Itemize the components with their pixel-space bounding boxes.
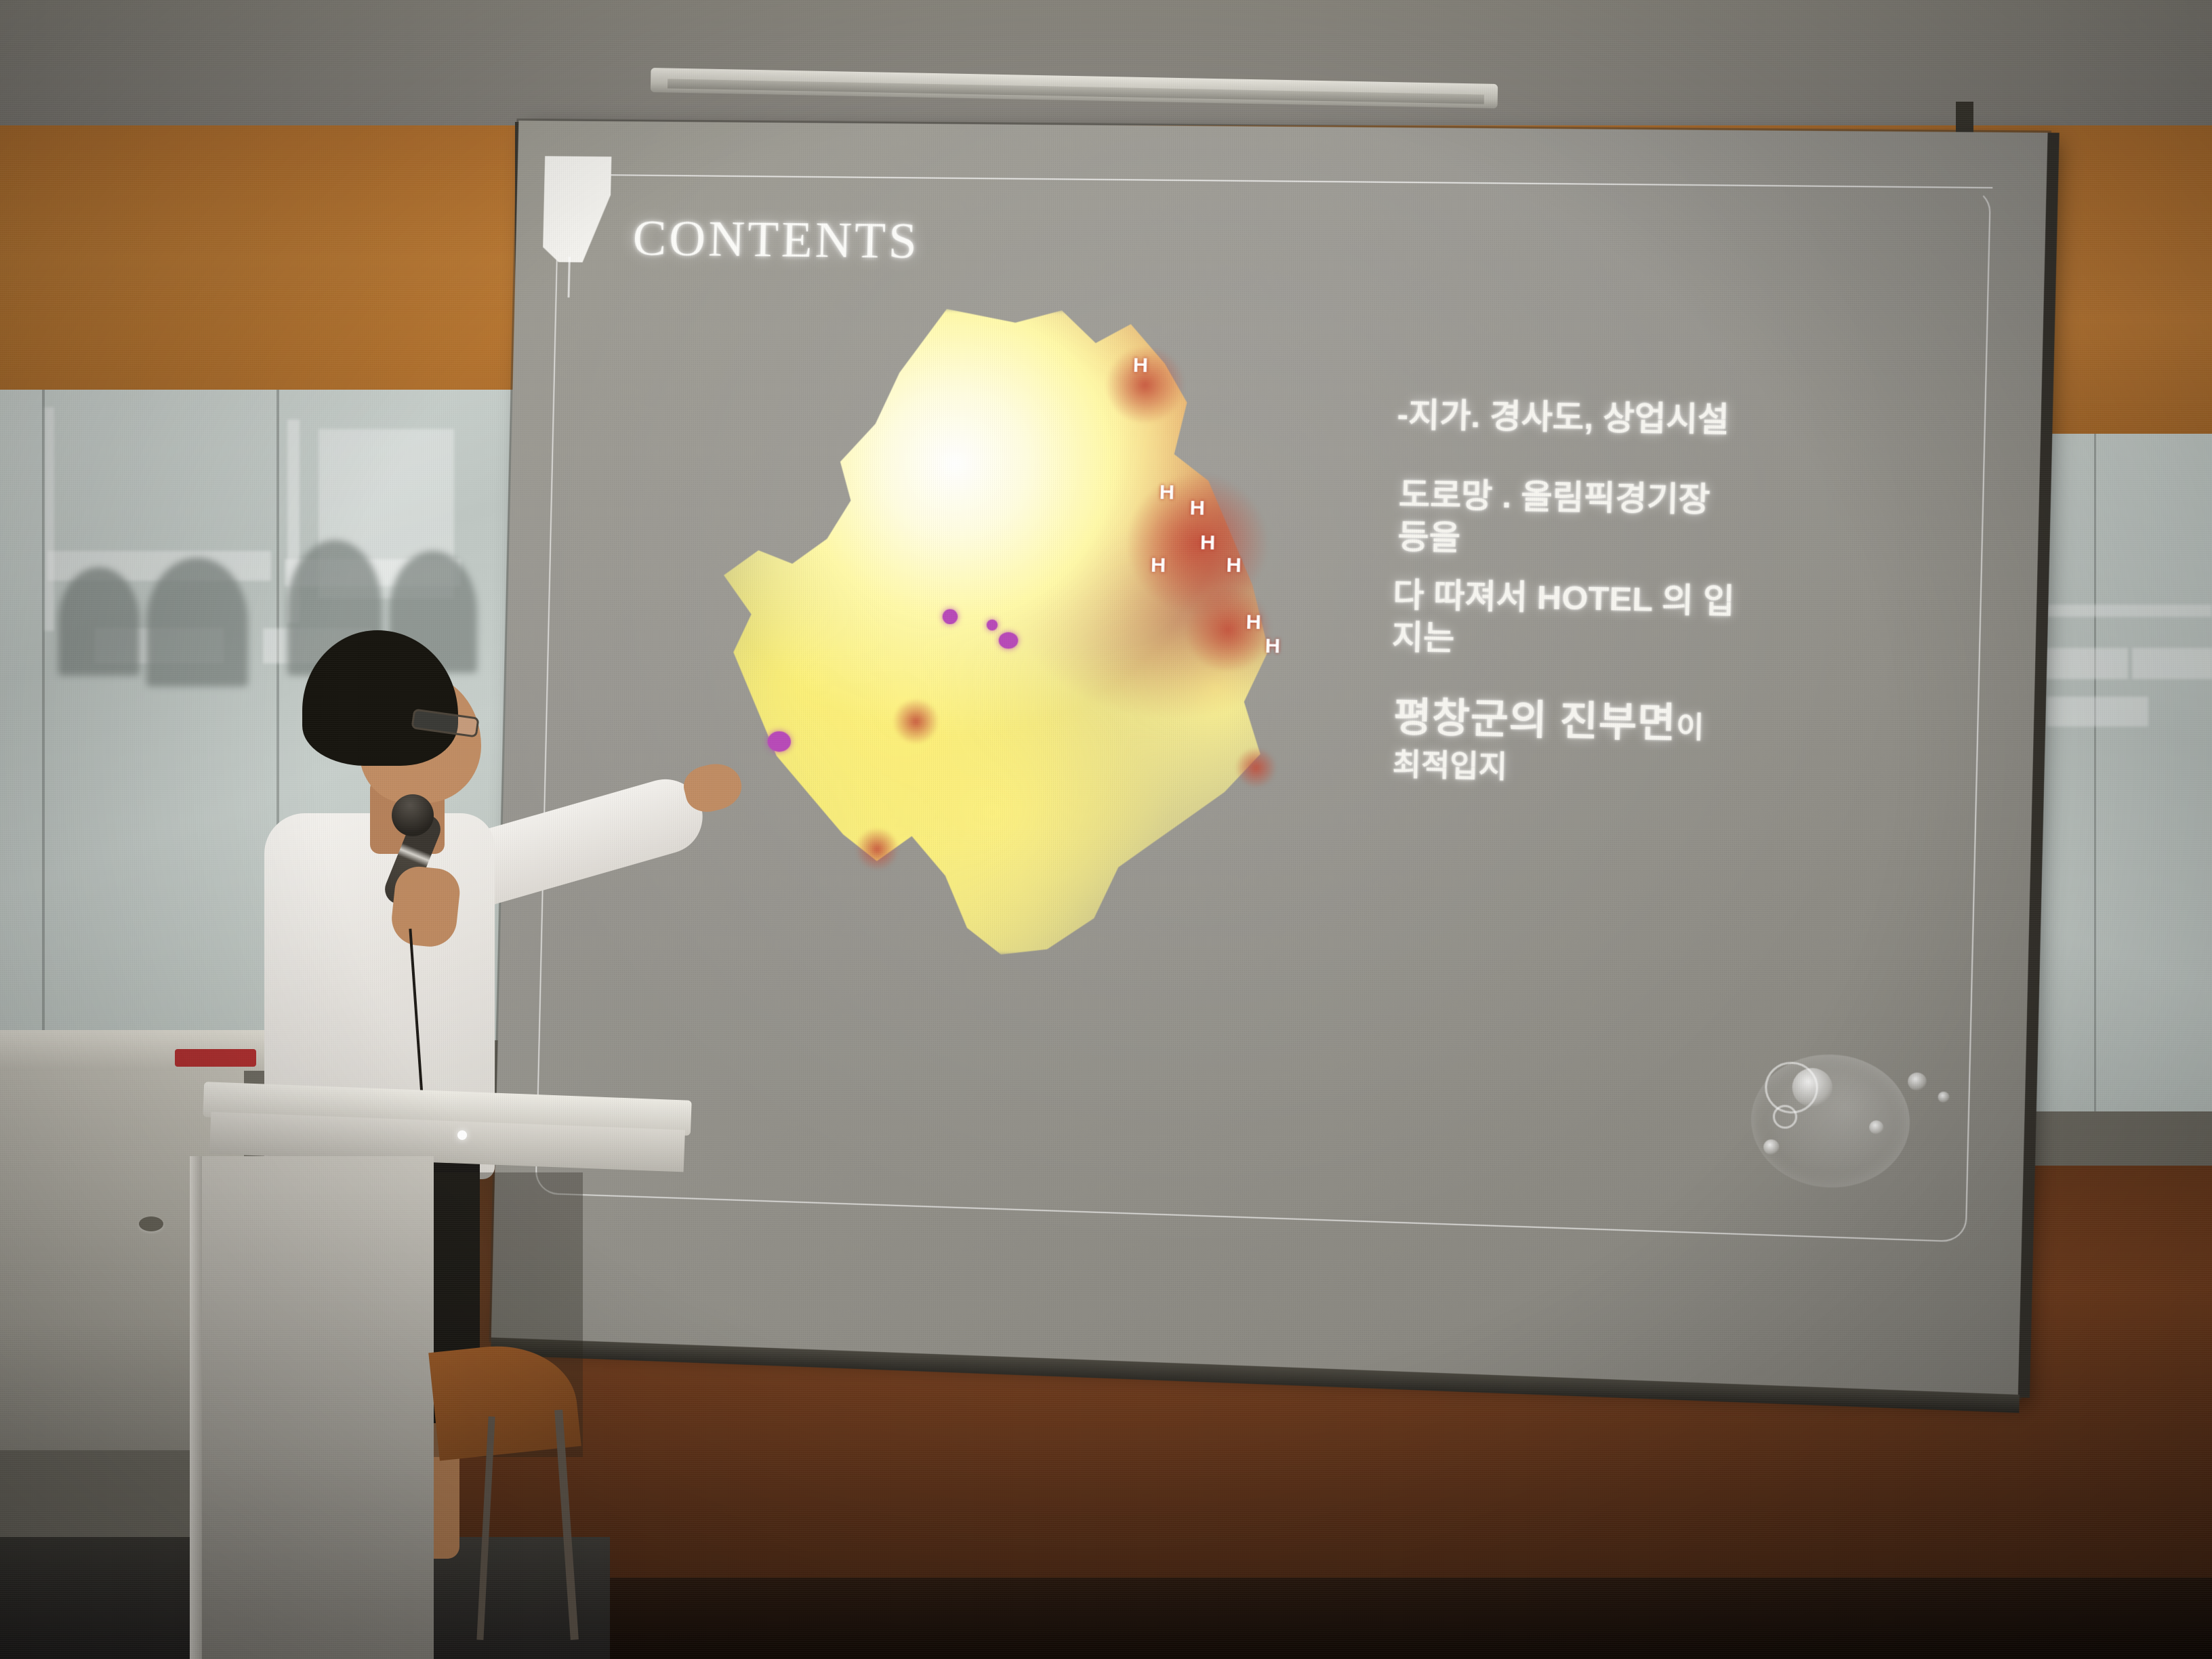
audience-silhouette bbox=[58, 567, 140, 676]
lectern-indicator-light bbox=[457, 1130, 467, 1140]
slide-content: CONTENTS H H H H H H H H bbox=[491, 121, 2049, 1397]
slide-bullet-2: 도로망 . 올림픽경기장 등을 bbox=[1397, 474, 1741, 565]
hotel-marker-icon: H bbox=[1132, 354, 1148, 377]
conclusion-subtext: 최적입지 bbox=[1392, 746, 1749, 794]
conclusion-highlight: 평창군의 진부면 bbox=[1393, 695, 1677, 746]
counter-knob bbox=[139, 1216, 163, 1231]
glass-mullion bbox=[2094, 434, 2096, 1111]
hotel-marker-icon: H bbox=[1265, 634, 1280, 658]
slide-bullet-3: 다 따져서 HOTEL 의 입 지는 bbox=[1391, 574, 1749, 666]
hotspot-red bbox=[854, 827, 901, 871]
slide-bullet-2-line-a: 도로망 . 올림픽경기장 bbox=[1398, 476, 1710, 518]
slide-bullet-3-line-b: 지는 bbox=[1391, 619, 1454, 657]
heat-map: H H H H H H H H bbox=[704, 306, 1294, 962]
glass-highlight bbox=[45, 407, 54, 631]
photo-scene: CONTENTS H H H H H H H H bbox=[0, 0, 2212, 1659]
slide-bullet-3-line-a: 다 따져서 HOTEL 의 입 bbox=[1393, 577, 1735, 620]
lectern-side-edge bbox=[190, 1156, 202, 1659]
presenter-hair bbox=[302, 630, 458, 766]
hotspot-red bbox=[1233, 747, 1278, 788]
hotel-marker-icon: H bbox=[1151, 554, 1166, 577]
hotel-marker-icon: H bbox=[1246, 611, 1261, 634]
projection-screen: CONTENTS H H H H H H H H bbox=[491, 121, 2049, 1397]
hotel-marker-icon: H bbox=[1189, 497, 1205, 520]
slide-bullet-2-line-b: 등을 bbox=[1397, 519, 1460, 557]
glass-highlight bbox=[2047, 697, 2148, 726]
hotel-marker-icon: H bbox=[1226, 554, 1242, 577]
conclusion-particle: 이 bbox=[1676, 710, 1704, 743]
slide-bullet-1: -지가. 경사도, 상업시설 bbox=[1397, 394, 1730, 442]
ceiling-wall bbox=[0, 0, 2212, 136]
audience-silhouette bbox=[146, 558, 248, 687]
slide-title: CONTENTS bbox=[632, 210, 920, 271]
glass-highlight bbox=[2132, 648, 2212, 679]
lectern-body bbox=[190, 1156, 434, 1659]
hotel-marker-icon: H bbox=[1159, 481, 1174, 505]
slide-conclusion: 평창군의 진부면이 최적입지 bbox=[1392, 692, 1750, 794]
hotel-marker-icon: H bbox=[1200, 531, 1215, 555]
